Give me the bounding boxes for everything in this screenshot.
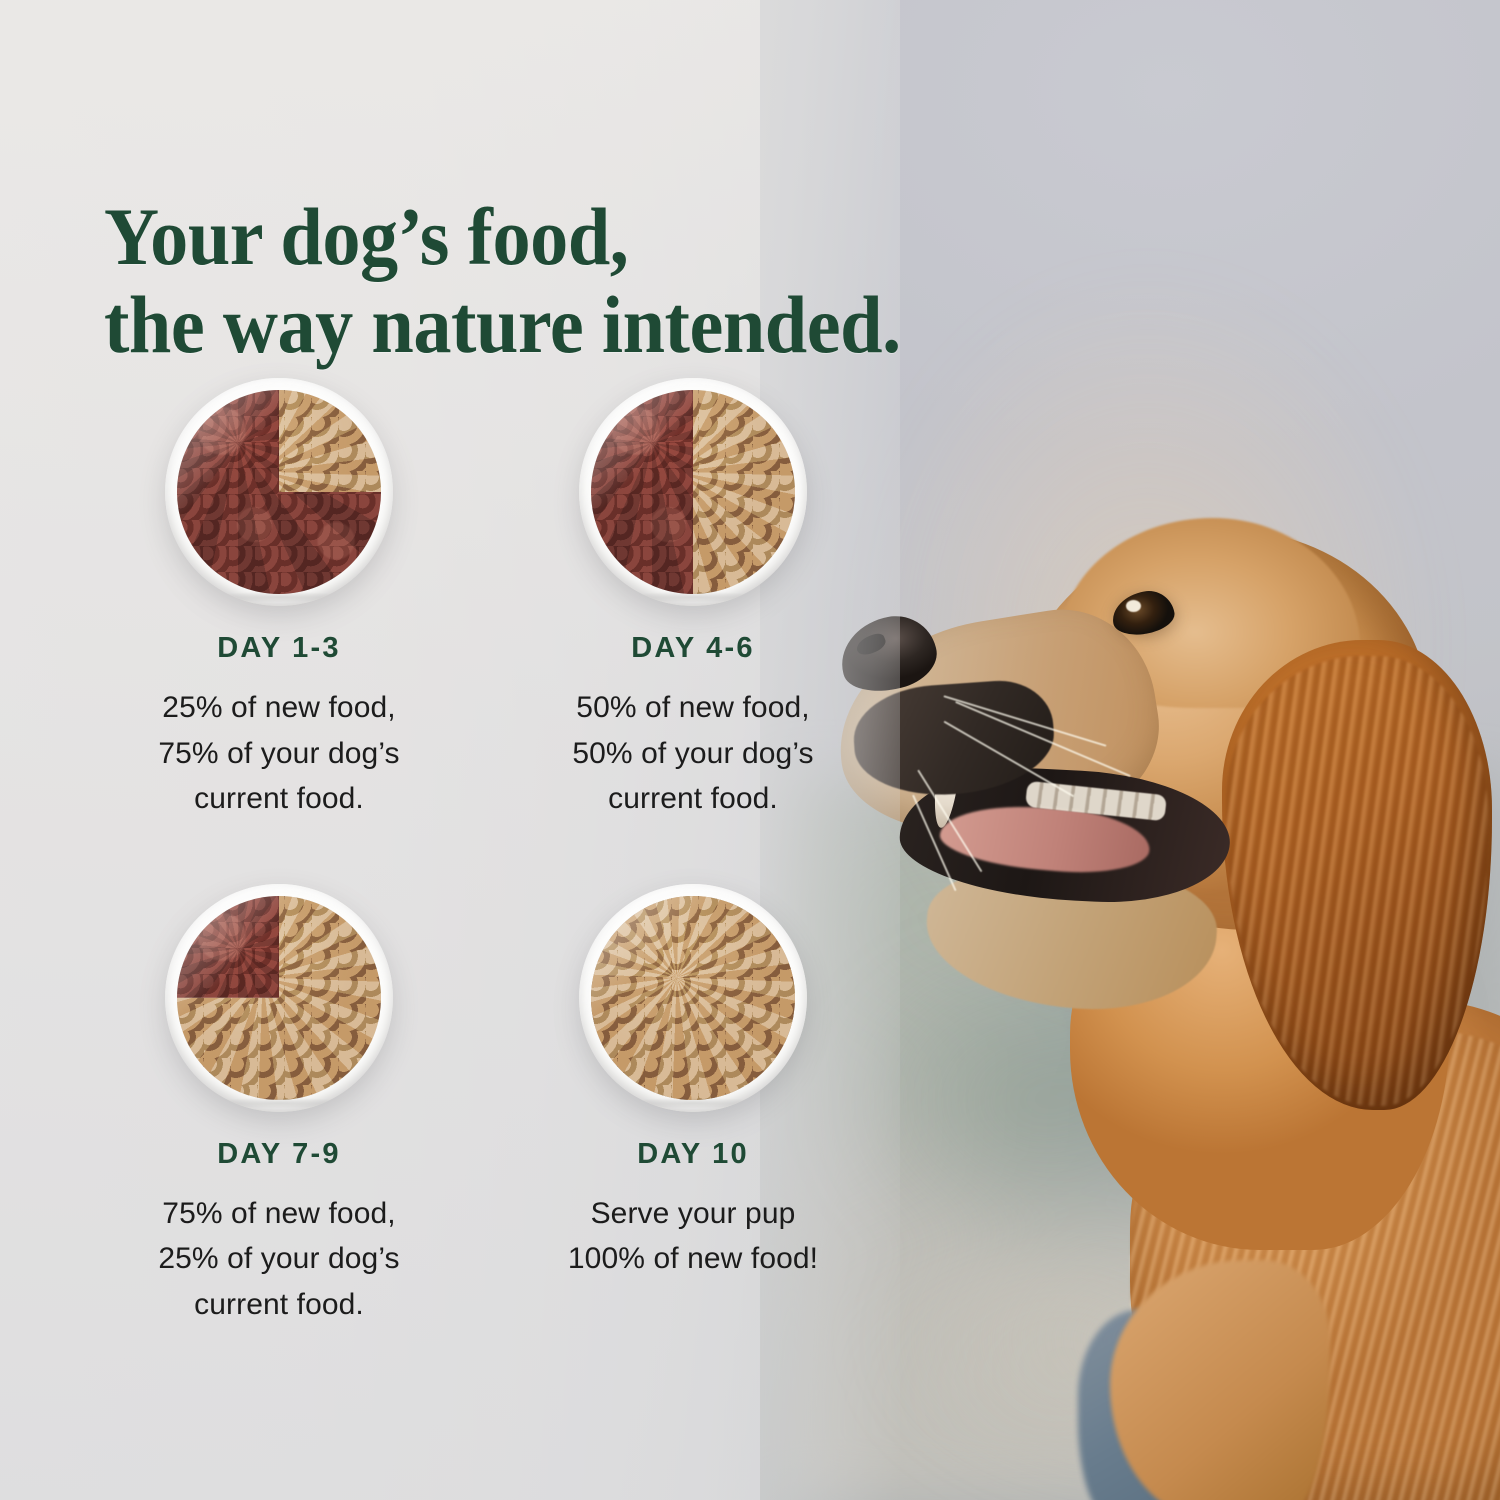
description-line: 50% of new food, — [572, 685, 813, 731]
bowl-day-1-3 — [165, 378, 393, 606]
transition-step-day-10: DAY 10 Serve your pup 100% of new food! — [510, 884, 876, 1328]
bowl-day-4-6 — [579, 378, 807, 606]
description-line: 75% of new food, — [158, 1191, 399, 1237]
transition-step-day-4-6: DAY 4-6 50% of new food, 50% of your dog… — [510, 378, 876, 822]
day-label: DAY 10 — [637, 1138, 749, 1171]
description-line: 75% of your dog’s — [158, 731, 399, 777]
content-layer: Your dog’s food, the way nature intended… — [0, 0, 1500, 1500]
bowl-wrapper — [510, 378, 876, 618]
description-line: 100% of new food! — [568, 1236, 818, 1282]
bowl-food-area — [177, 390, 381, 594]
transition-step-day-1-3: DAY 1-3 25% of new food, 75% of your dog… — [96, 378, 462, 822]
day-label: DAY 7-9 — [217, 1138, 340, 1171]
bowl-food-area — [591, 390, 795, 594]
bowl-food-area — [177, 896, 381, 1100]
description-line: Serve your pup — [568, 1191, 818, 1237]
description-line: current food. — [158, 1282, 399, 1328]
page-title: Your dog’s food, the way nature intended… — [104, 193, 1090, 368]
day-label: DAY 1-3 — [217, 632, 340, 665]
description-line: current food. — [158, 776, 399, 822]
transition-schedule-grid: DAY 1-3 25% of new food, 75% of your dog… — [96, 378, 876, 1328]
bowl-day-10 — [579, 884, 807, 1112]
description-line: 25% of your dog’s — [158, 1236, 399, 1282]
step-description: 50% of new food, 50% of your dog’s curre… — [572, 685, 813, 822]
bowl-food-area — [591, 896, 795, 1100]
new-food-portion — [591, 896, 795, 1100]
bowl-wrapper — [96, 884, 462, 1124]
step-description: 75% of new food, 25% of your dog’s curre… — [158, 1191, 399, 1328]
bowl-wrapper — [510, 884, 876, 1124]
bowl-day-7-9 — [165, 884, 393, 1112]
headline-line-1: Your dog’s food, — [104, 191, 628, 282]
day-label: DAY 4-6 — [631, 632, 754, 665]
promo-graphic: Your dog’s food, the way nature intended… — [0, 0, 1500, 1500]
headline-line-2: the way nature intended. — [104, 281, 1090, 369]
description-line: current food. — [572, 776, 813, 822]
step-description: Serve your pup 100% of new food! — [568, 1191, 818, 1282]
description-line: 50% of your dog’s — [572, 731, 813, 777]
step-description: 25% of new food, 75% of your dog’s curre… — [158, 685, 399, 822]
bowl-wrapper — [96, 378, 462, 618]
description-line: 25% of new food, — [158, 685, 399, 731]
transition-step-day-7-9: DAY 7-9 75% of new food, 25% of your dog… — [96, 884, 462, 1328]
